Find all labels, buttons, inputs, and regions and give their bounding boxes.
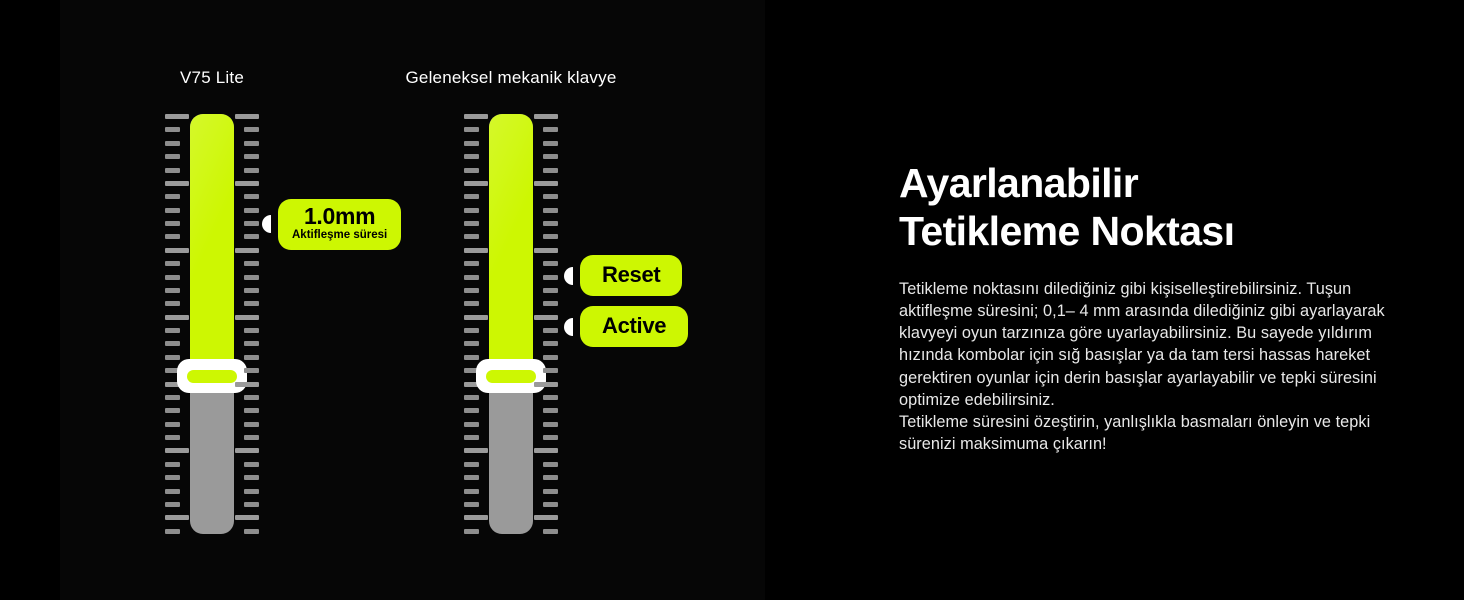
tick-major: [534, 448, 558, 453]
tick-minor: [165, 435, 180, 440]
reset-button-label: Reset: [602, 264, 660, 286]
activation-depth-bubble[interactable]: 1.0mm Aktifleşme süresi: [278, 199, 401, 250]
tick-minor: [244, 127, 259, 132]
marketing-copy-column: Ayarlanabilir Tetikleme Noktası Tetiklem…: [899, 160, 1419, 455]
tick-minor: [464, 462, 479, 467]
body-paragraph-2: Tetikleme süresini özeştirin, yanlışlıkl…: [899, 411, 1419, 455]
tick-minor: [464, 127, 479, 132]
tick-minor: [244, 475, 259, 480]
tick-minor: [244, 422, 259, 427]
left-caret-icon: [564, 267, 573, 285]
tick-minor: [464, 234, 479, 239]
tick-minor: [244, 154, 259, 159]
tick-minor: [244, 489, 259, 494]
tick-scale-right: [532, 114, 558, 534]
tick-minor: [165, 408, 180, 413]
slider-group-traditional-keyboard: Geleneksel mekanik klavye: [464, 68, 558, 538]
slide-root: V75 Lite 1.0mm Aktifleşme süresi Gelenek…: [0, 0, 1464, 600]
tick-minor: [464, 529, 479, 534]
tick-minor: [464, 154, 479, 159]
tick-minor: [464, 301, 479, 306]
tick-minor: [165, 208, 180, 213]
tick-major: [235, 448, 259, 453]
tick-minor: [543, 475, 558, 480]
tick-minor: [543, 462, 558, 467]
tick-minor: [543, 408, 558, 413]
slider-group-v75-lite: V75 Lite: [165, 68, 259, 538]
tick-minor: [165, 234, 180, 239]
tick-major: [464, 515, 488, 520]
body-paragraph-1: Tetikleme noktasını dilediğiniz gibi kiş…: [899, 278, 1419, 411]
tick-major: [534, 248, 558, 253]
tick-minor: [244, 408, 259, 413]
tick-minor: [244, 529, 259, 534]
tick-major: [165, 515, 189, 520]
tick-minor: [543, 368, 558, 373]
tick-minor: [165, 221, 180, 226]
tick-minor: [464, 328, 479, 333]
active-button[interactable]: Active: [580, 306, 688, 347]
tick-minor: [165, 141, 180, 146]
tick-minor: [244, 194, 259, 199]
tick-minor: [464, 261, 479, 266]
slider-body: [464, 114, 558, 534]
tick-minor: [464, 341, 479, 346]
tick-major: [235, 315, 259, 320]
tick-minor: [244, 234, 259, 239]
tick-minor: [543, 168, 558, 173]
tick-minor: [244, 502, 259, 507]
left-caret-icon: [564, 318, 573, 336]
tick-minor: [244, 221, 259, 226]
tick-minor: [244, 341, 259, 346]
slider-handle-pill: [187, 370, 237, 383]
reset-button[interactable]: Reset: [580, 255, 682, 296]
tick-minor: [543, 422, 558, 427]
tick-major: [464, 315, 488, 320]
tick-minor: [244, 261, 259, 266]
tick-minor: [464, 288, 479, 293]
tick-minor: [165, 288, 180, 293]
headline-line-1: Ayarlanabilir: [899, 160, 1138, 206]
callout-reset: Reset: [564, 255, 682, 296]
tick-major: [165, 181, 189, 186]
tick-minor: [464, 435, 479, 440]
activation-depth-value: 1.0mm: [304, 205, 375, 228]
tick-minor: [543, 435, 558, 440]
tick-minor: [165, 168, 180, 173]
tick-minor: [464, 275, 479, 280]
tick-scale-left: [165, 114, 191, 534]
tick-major: [235, 181, 259, 186]
tick-minor: [543, 261, 558, 266]
tick-minor: [543, 154, 558, 159]
tick-minor: [543, 529, 558, 534]
tick-major: [235, 248, 259, 253]
tick-major: [165, 114, 189, 119]
slider-track[interactable]: [489, 114, 533, 534]
tick-major: [464, 114, 488, 119]
tick-minor: [464, 168, 479, 173]
tick-minor: [244, 275, 259, 280]
headline-line-2: Tetikleme Noktası: [899, 208, 1234, 254]
tick-minor: [165, 395, 180, 400]
tick-minor: [165, 154, 180, 159]
tick-minor: [244, 208, 259, 213]
tick-minor: [165, 489, 180, 494]
tick-minor: [543, 194, 558, 199]
tick-minor: [543, 221, 558, 226]
tick-minor: [543, 395, 558, 400]
tick-minor: [464, 489, 479, 494]
callout-active: Active: [564, 306, 688, 347]
tick-major: [534, 114, 558, 119]
tick-minor: [543, 141, 558, 146]
tick-minor: [244, 168, 259, 173]
tick-minor: [165, 341, 180, 346]
callout-activation-depth: 1.0mm Aktifleşme süresi: [262, 199, 401, 250]
tick-minor: [543, 234, 558, 239]
tick-minor: [543, 275, 558, 280]
tick-minor: [165, 301, 180, 306]
slider-track-fill: [489, 114, 533, 376]
activation-depth-sublabel: Aktifleşme süresi: [292, 229, 387, 242]
tick-minor: [464, 502, 479, 507]
tick-minor: [165, 355, 180, 360]
tick-major: [165, 248, 189, 253]
tick-scale-right: [233, 114, 259, 534]
tick-major: [464, 448, 488, 453]
tick-major: [464, 248, 488, 253]
tick-major: [165, 448, 189, 453]
tick-minor: [464, 422, 479, 427]
tick-minor: [464, 475, 479, 480]
tick-minor: [244, 328, 259, 333]
tick-minor: [543, 208, 558, 213]
tick-major: [534, 382, 558, 387]
tick-major: [235, 114, 259, 119]
tick-minor: [543, 355, 558, 360]
tick-minor: [165, 261, 180, 266]
tick-minor: [543, 127, 558, 132]
tick-minor: [543, 328, 558, 333]
tick-minor: [165, 529, 180, 534]
tick-major: [534, 181, 558, 186]
tick-major: [534, 315, 558, 320]
tick-minor: [165, 502, 180, 507]
tick-scale-left: [464, 114, 490, 534]
tick-minor: [244, 462, 259, 467]
slider-track[interactable]: [190, 114, 234, 534]
tick-minor: [464, 355, 479, 360]
tick-major: [534, 515, 558, 520]
tick-minor: [165, 127, 180, 132]
tick-major: [235, 515, 259, 520]
slider-title-traditional-keyboard: Geleneksel mekanik klavye: [406, 68, 617, 88]
slider-body: [165, 114, 259, 534]
tick-minor: [165, 328, 180, 333]
tick-minor: [165, 475, 180, 480]
active-button-label: Active: [602, 315, 666, 337]
tick-minor: [165, 275, 180, 280]
tick-minor: [543, 341, 558, 346]
tick-minor: [244, 368, 259, 373]
tick-minor: [244, 355, 259, 360]
tick-major: [165, 315, 189, 320]
tick-minor: [543, 489, 558, 494]
tick-minor: [165, 194, 180, 199]
tick-minor: [244, 141, 259, 146]
tick-minor: [165, 422, 180, 427]
tick-minor: [543, 288, 558, 293]
tick-minor: [464, 208, 479, 213]
tick-minor: [244, 435, 259, 440]
left-caret-icon: [262, 215, 271, 233]
tick-minor: [464, 221, 479, 226]
tick-minor: [165, 462, 180, 467]
tick-minor: [464, 408, 479, 413]
page-title: Ayarlanabilir Tetikleme Noktası: [899, 160, 1419, 256]
slider-handle-pill: [486, 370, 536, 383]
tick-minor: [464, 395, 479, 400]
tick-minor: [244, 301, 259, 306]
tick-major: [235, 382, 259, 387]
tick-major: [464, 181, 488, 186]
body-copy: Tetikleme noktasını dilediğiniz gibi kiş…: [899, 278, 1419, 455]
tick-minor: [244, 395, 259, 400]
tick-minor: [543, 301, 558, 306]
tick-minor: [543, 502, 558, 507]
tick-minor: [464, 194, 479, 199]
slider-track-fill: [190, 114, 234, 376]
tick-minor: [464, 141, 479, 146]
slider-title-v75-lite: V75 Lite: [180, 68, 244, 88]
tick-minor: [244, 288, 259, 293]
